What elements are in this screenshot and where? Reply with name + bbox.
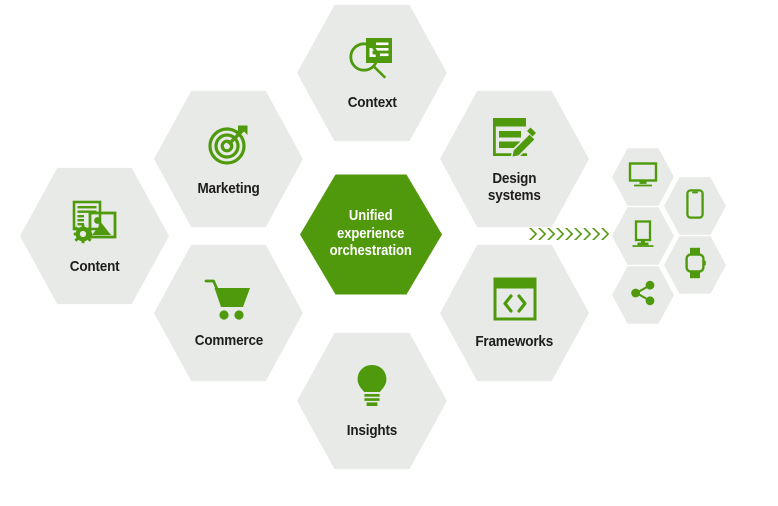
hex-tile-design-systems[interactable]: Designsystems <box>440 88 589 230</box>
chevron-right-icon <box>591 227 600 241</box>
hex-label-content: Content <box>70 259 120 275</box>
chevron-right-icon <box>546 227 555 241</box>
center-line-1: Unified <box>349 208 393 224</box>
chevron-right-icon <box>582 227 591 241</box>
shopping-cart-icon <box>204 277 254 321</box>
smartwatch-icon <box>684 247 706 284</box>
content-document-image-gear-icon <box>70 197 120 247</box>
hex-tile-context[interactable]: Context <box>297 2 447 144</box>
hex-tile-channel-desktop[interactable] <box>612 147 674 207</box>
hex-label-center: Unifiedexperienceorchestration <box>330 208 412 261</box>
center-line-3: orchestration <box>330 243 412 259</box>
hex-tile-commerce[interactable]: Commerce <box>154 242 303 384</box>
target-arrow-icon <box>205 120 253 168</box>
hex-label-design-systems: Designsystems <box>488 171 541 203</box>
hex-label-marketing: Marketing <box>197 181 259 197</box>
smartphone-icon <box>686 189 704 224</box>
chevron-arrow-connector <box>528 226 612 242</box>
hex-label-insights: Insights <box>347 423 397 439</box>
chevron-right-icon <box>528 227 537 241</box>
chevron-right-icon <box>555 227 564 241</box>
hex-tile-content[interactable]: Content <box>20 165 169 307</box>
diagram-canvas: Content Marketing <box>0 0 778 506</box>
code-brackets-window-icon <box>492 276 538 322</box>
hex-tile-marketing[interactable]: Marketing <box>154 88 303 230</box>
chevron-right-icon <box>600 227 609 241</box>
design-line-2: systems <box>488 187 541 204</box>
hex-tile-channel-share[interactable] <box>612 265 674 325</box>
chevron-right-icon <box>573 227 582 241</box>
hex-tile-channel-watch[interactable] <box>664 235 726 295</box>
hex-label-context: Context <box>348 95 397 111</box>
desktop-monitor-icon <box>628 162 658 193</box>
hex-label-commerce: Commerce <box>194 333 262 349</box>
tablet-stand-icon <box>630 220 656 253</box>
chevron-right-icon <box>564 227 573 241</box>
lightbulb-icon <box>355 363 389 409</box>
hex-tile-frameworks[interactable]: Frameworks <box>440 242 589 384</box>
hex-tile-channel-tablet[interactable] <box>612 206 674 266</box>
chevron-right-icon <box>537 227 546 241</box>
hex-tile-channel-phone[interactable] <box>664 176 726 236</box>
hex-label-frameworks: Frameworks <box>476 334 554 350</box>
magnifier-document-icon <box>347 35 397 81</box>
center-line-2: experience <box>337 226 404 242</box>
document-pencil-edit-icon <box>489 114 541 160</box>
hex-tile-insights[interactable]: Insights <box>297 330 447 472</box>
hex-tile-center-unified-experience-orchestration[interactable]: Unifiedexperienceorchestration <box>300 172 442 297</box>
design-line-1: Design <box>493 170 537 187</box>
share-nodes-icon <box>629 279 657 312</box>
